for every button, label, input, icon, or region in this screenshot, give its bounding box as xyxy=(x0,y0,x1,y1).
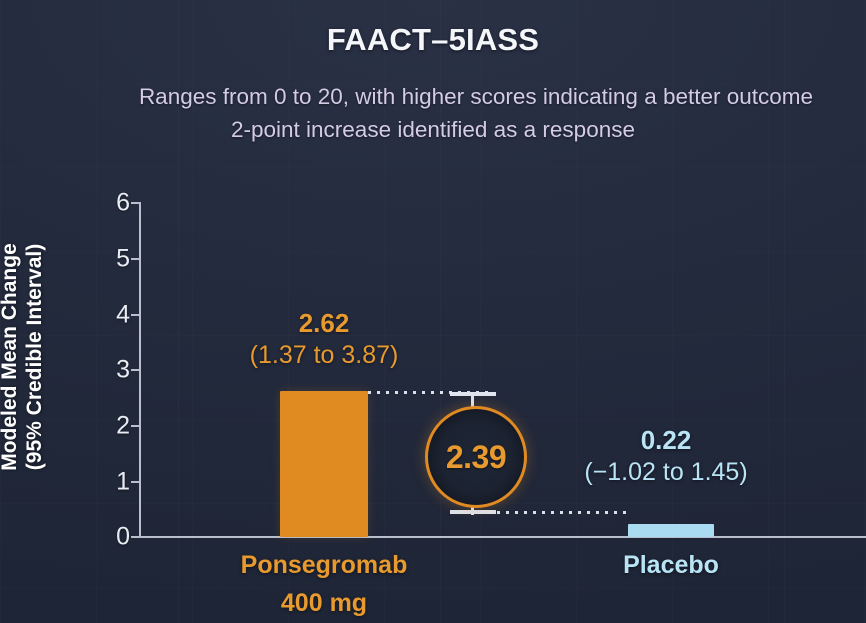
y-tick-label-3: 3 xyxy=(96,356,130,385)
annotation-ponsegromab: 2.62 (1.37 to 3.87) xyxy=(204,308,444,371)
bar-placebo xyxy=(628,524,714,537)
category-label-ponsegromab: Ponsegromab 400 mg xyxy=(204,546,444,622)
y-tick-label-0: 0 xyxy=(96,523,130,552)
difference-marker-value: 2.39 xyxy=(446,439,506,476)
y-tick-label-4: 4 xyxy=(96,301,130,330)
annotation-placebo-estimate: 0.22 xyxy=(541,425,791,456)
chart-subtitle: Ranges from 0 to 20, with higher scores … xyxy=(0,80,866,146)
annotation-placebo-ci: (−1.02 to 1.45) xyxy=(541,456,791,488)
y-tick-label-6: 6 xyxy=(96,189,130,218)
difference-error-bar-cap-lower xyxy=(450,510,496,514)
category-label-placebo: Placebo xyxy=(551,546,791,584)
annotation-ponsegromab-estimate: 2.62 xyxy=(204,308,444,339)
y-tick-label-2: 2 xyxy=(96,412,130,441)
category-label-ponsegromab-line1: Ponsegromab xyxy=(204,546,444,584)
annotation-placebo: 0.22 (−1.02 to 1.45) xyxy=(541,425,791,488)
y-axis-label-line2: (95% Credible Interval) xyxy=(22,243,47,471)
x-axis-line xyxy=(139,536,866,538)
chart-title: FAACT–5IASS xyxy=(0,22,866,58)
difference-marker-circle: 2.39 xyxy=(425,406,527,508)
chart-figure: FAACT–5IASS Ranges from 0 to 20, with hi… xyxy=(0,0,866,623)
y-axis-label-line1: Modeled Mean Change xyxy=(0,243,22,471)
category-label-ponsegromab-line2: 400 mg xyxy=(204,584,444,622)
y-axis-label: Modeled Mean Change (95% Credible Interv… xyxy=(2,172,42,542)
y-axis-line xyxy=(139,202,141,538)
y-tick-label-1: 1 xyxy=(96,468,130,497)
chart-subtitle-line2: 2-point increase identified as a respons… xyxy=(0,113,866,146)
difference-error-bar-cap-upper xyxy=(450,392,496,396)
y-tick-label-5: 5 xyxy=(96,245,130,274)
bar-ponsegromab xyxy=(280,391,368,537)
chart-subtitle-line1: Ranges from 0 to 20, with higher scores … xyxy=(86,80,866,113)
category-label-placebo-line1: Placebo xyxy=(551,546,791,584)
annotation-ponsegromab-ci: (1.37 to 3.87) xyxy=(204,339,444,371)
